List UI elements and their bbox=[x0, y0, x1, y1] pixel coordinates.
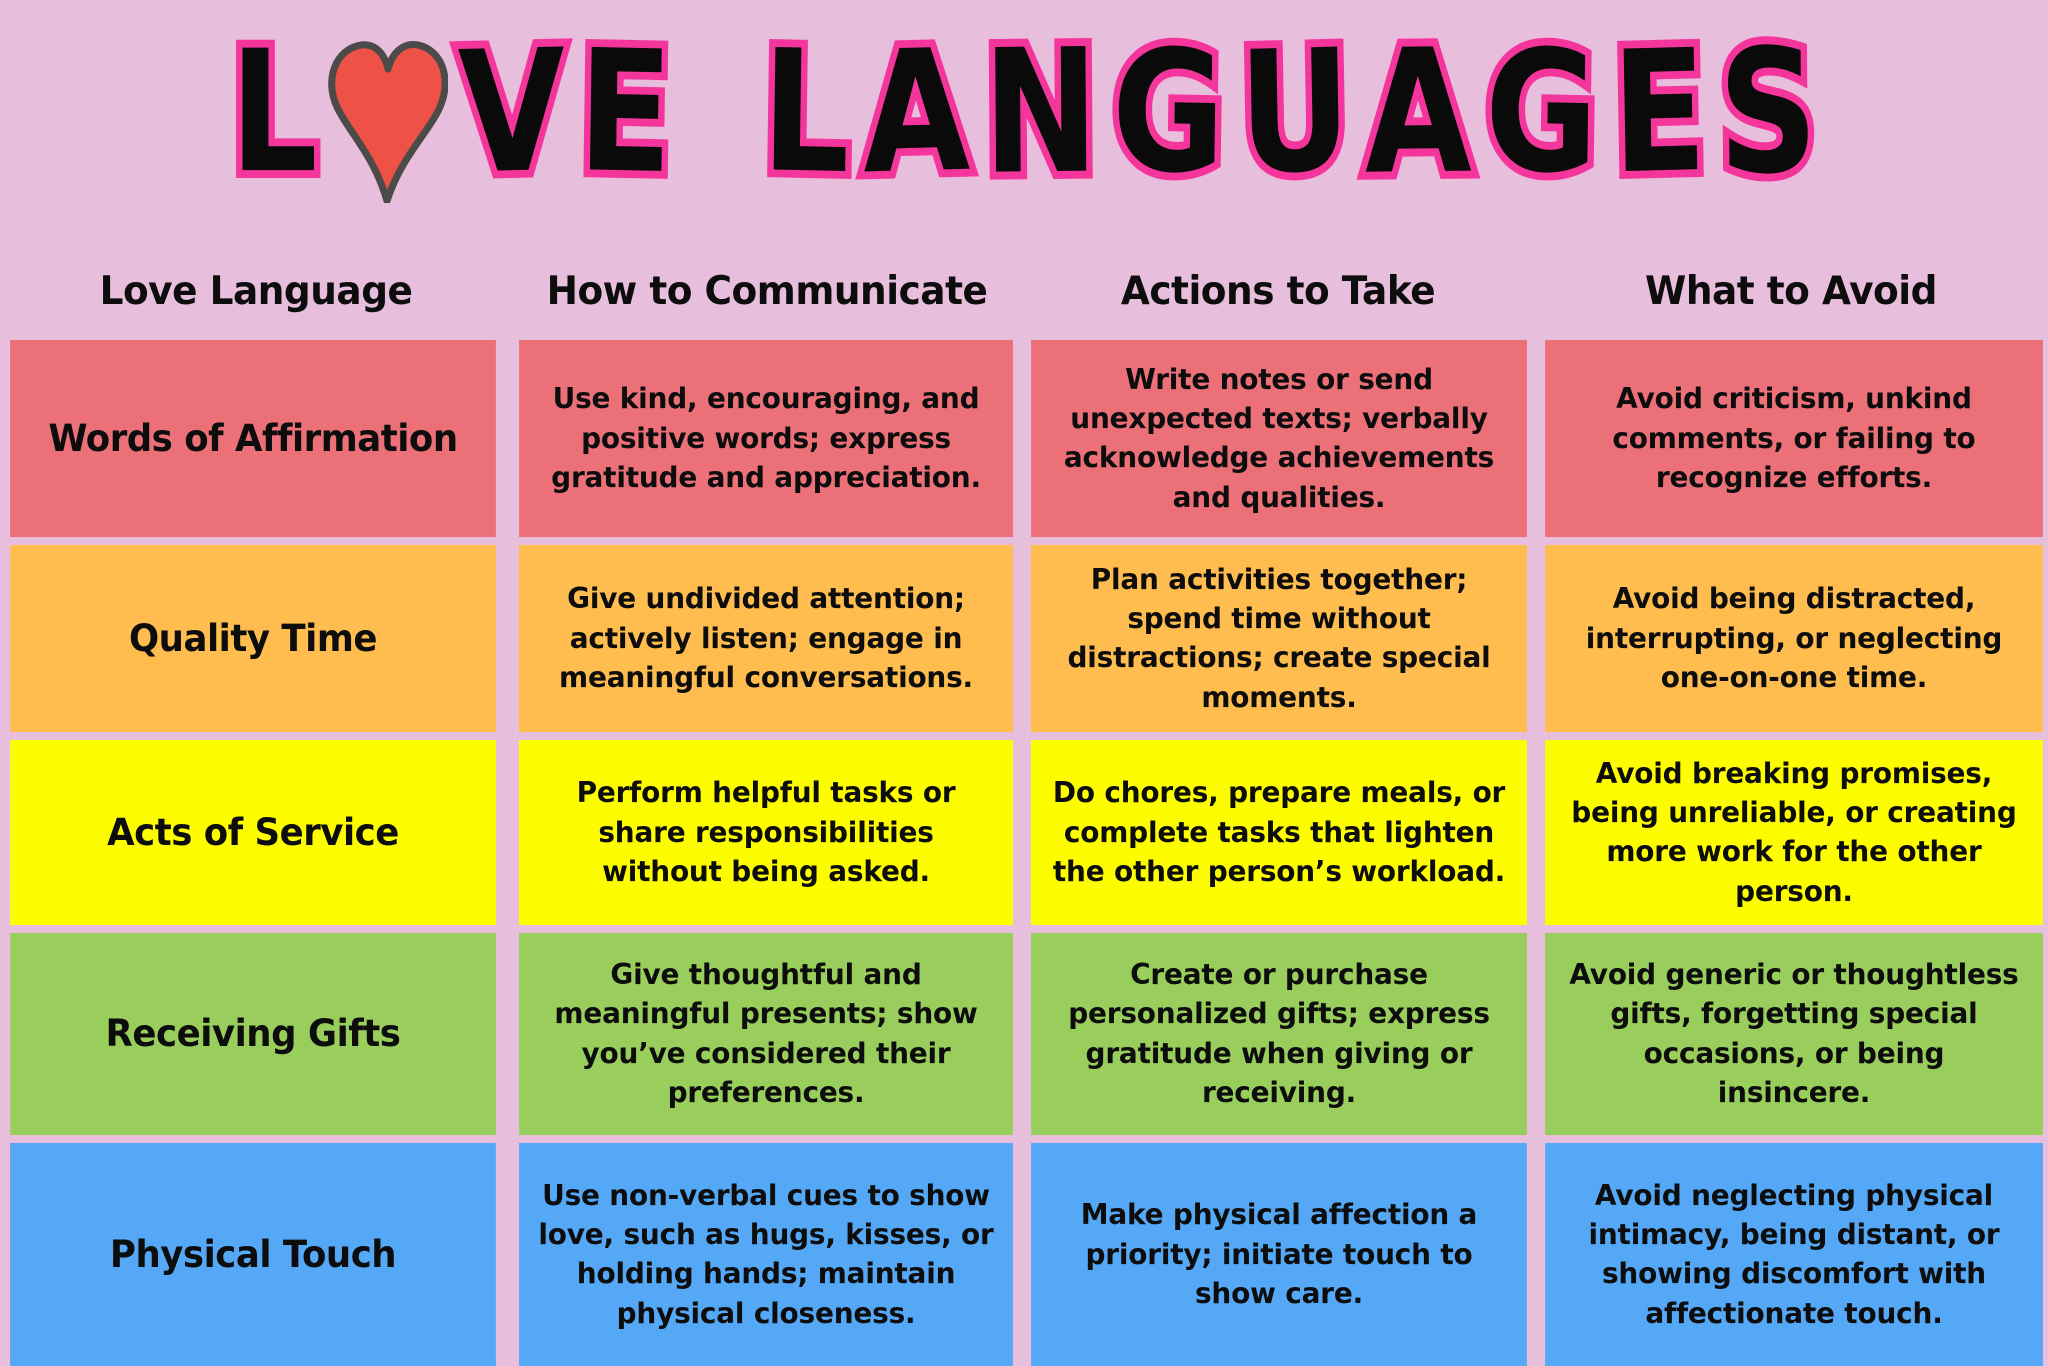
cell-language-4: Physical Touch bbox=[10, 1143, 496, 1366]
cell-avoid-2: Avoid breaking promises, being unreliabl… bbox=[1545, 740, 2043, 925]
poster-title: L V E L A N G U A G E S bbox=[0, 18, 2048, 208]
title-letter-E: E bbox=[577, 28, 674, 198]
cell-actions-0: Write notes or send unexpected texts; ve… bbox=[1031, 340, 1527, 537]
cell-actions-1: Plan activities together; spend time wit… bbox=[1031, 545, 1527, 732]
love-languages-table: Words of Affirmation Use kind, encouragi… bbox=[0, 340, 2048, 1366]
title-letter-V: V bbox=[457, 28, 567, 199]
column-header-how-to-communicate: How to Communicate bbox=[522, 248, 1012, 334]
cell-communicate-0: Use kind, encouraging, and positive word… bbox=[519, 340, 1013, 537]
cell-avoid-4: Avoid neglecting physical intimacy, bein… bbox=[1545, 1143, 2043, 1366]
cell-language-0: Words of Affirmation bbox=[10, 340, 496, 537]
title-letter-S: S bbox=[1718, 27, 1819, 199]
title-letter-G1: G bbox=[1111, 28, 1227, 198]
title-letter-N: N bbox=[982, 27, 1099, 199]
cell-language-1: Quality Time bbox=[10, 545, 496, 732]
cell-communicate-2: Perform helpful tasks or share responsib… bbox=[519, 740, 1013, 925]
table-row: Words of Affirmation Use kind, encouragi… bbox=[0, 340, 2048, 537]
column-header-what-to-avoid: What to Avoid bbox=[1544, 248, 2037, 334]
table-column-headers: Love Language How to Communicate Actions… bbox=[0, 248, 2048, 334]
cell-language-3: Receiving Gifts bbox=[10, 933, 496, 1135]
table-row: Acts of Service Perform helpful tasks or… bbox=[0, 740, 2048, 925]
table-row: Receiving Gifts Give thoughtful and mean… bbox=[0, 933, 2048, 1135]
title-word-love: L V E bbox=[224, 29, 678, 197]
title-letter-E2: E bbox=[1610, 28, 1707, 198]
title-letter-U: U bbox=[1238, 28, 1353, 199]
cell-actions-4: Make physical affection a priority; init… bbox=[1031, 1143, 1527, 1366]
cell-communicate-1: Give undivided attention; actively liste… bbox=[519, 545, 1013, 732]
cell-avoid-3: Avoid generic or thoughtless gifts, forg… bbox=[1545, 933, 2043, 1135]
title-letter-L2: L bbox=[761, 28, 851, 198]
title-letter-A2: A bbox=[1364, 27, 1472, 199]
love-languages-poster: L V E L A N G U A G E S Love Language Ho… bbox=[0, 0, 2048, 1366]
cell-communicate-4: Use non-verbal cues to show love, such a… bbox=[519, 1143, 1013, 1366]
title-letter-G2: G bbox=[1484, 28, 1600, 198]
cell-avoid-0: Avoid criticism, unkind comments, or fai… bbox=[1545, 340, 2043, 537]
title-word-languages: L A N G U A G E S bbox=[756, 38, 1824, 188]
cell-actions-3: Create or purchase personalized gifts; e… bbox=[1031, 933, 1527, 1135]
cell-actions-2: Do chores, prepare meals, or complete ta… bbox=[1031, 740, 1527, 925]
column-header-love-language: Love Language bbox=[10, 248, 502, 334]
table-row: Physical Touch Use non-verbal cues to sh… bbox=[0, 1143, 2048, 1366]
cell-avoid-1: Avoid being distracted, interrupting, or… bbox=[1545, 545, 2043, 732]
title-letter-L: L bbox=[230, 29, 318, 197]
table-row: Quality Time Give undivided attention; a… bbox=[0, 545, 2048, 732]
heart-icon bbox=[328, 35, 448, 203]
cell-communicate-3: Give thoughtful and meaningful presents;… bbox=[519, 933, 1013, 1135]
title-letter-A1: A bbox=[861, 28, 971, 199]
cell-language-2: Acts of Service bbox=[10, 740, 496, 925]
column-header-actions-to-take: Actions to Take bbox=[1032, 248, 1524, 334]
